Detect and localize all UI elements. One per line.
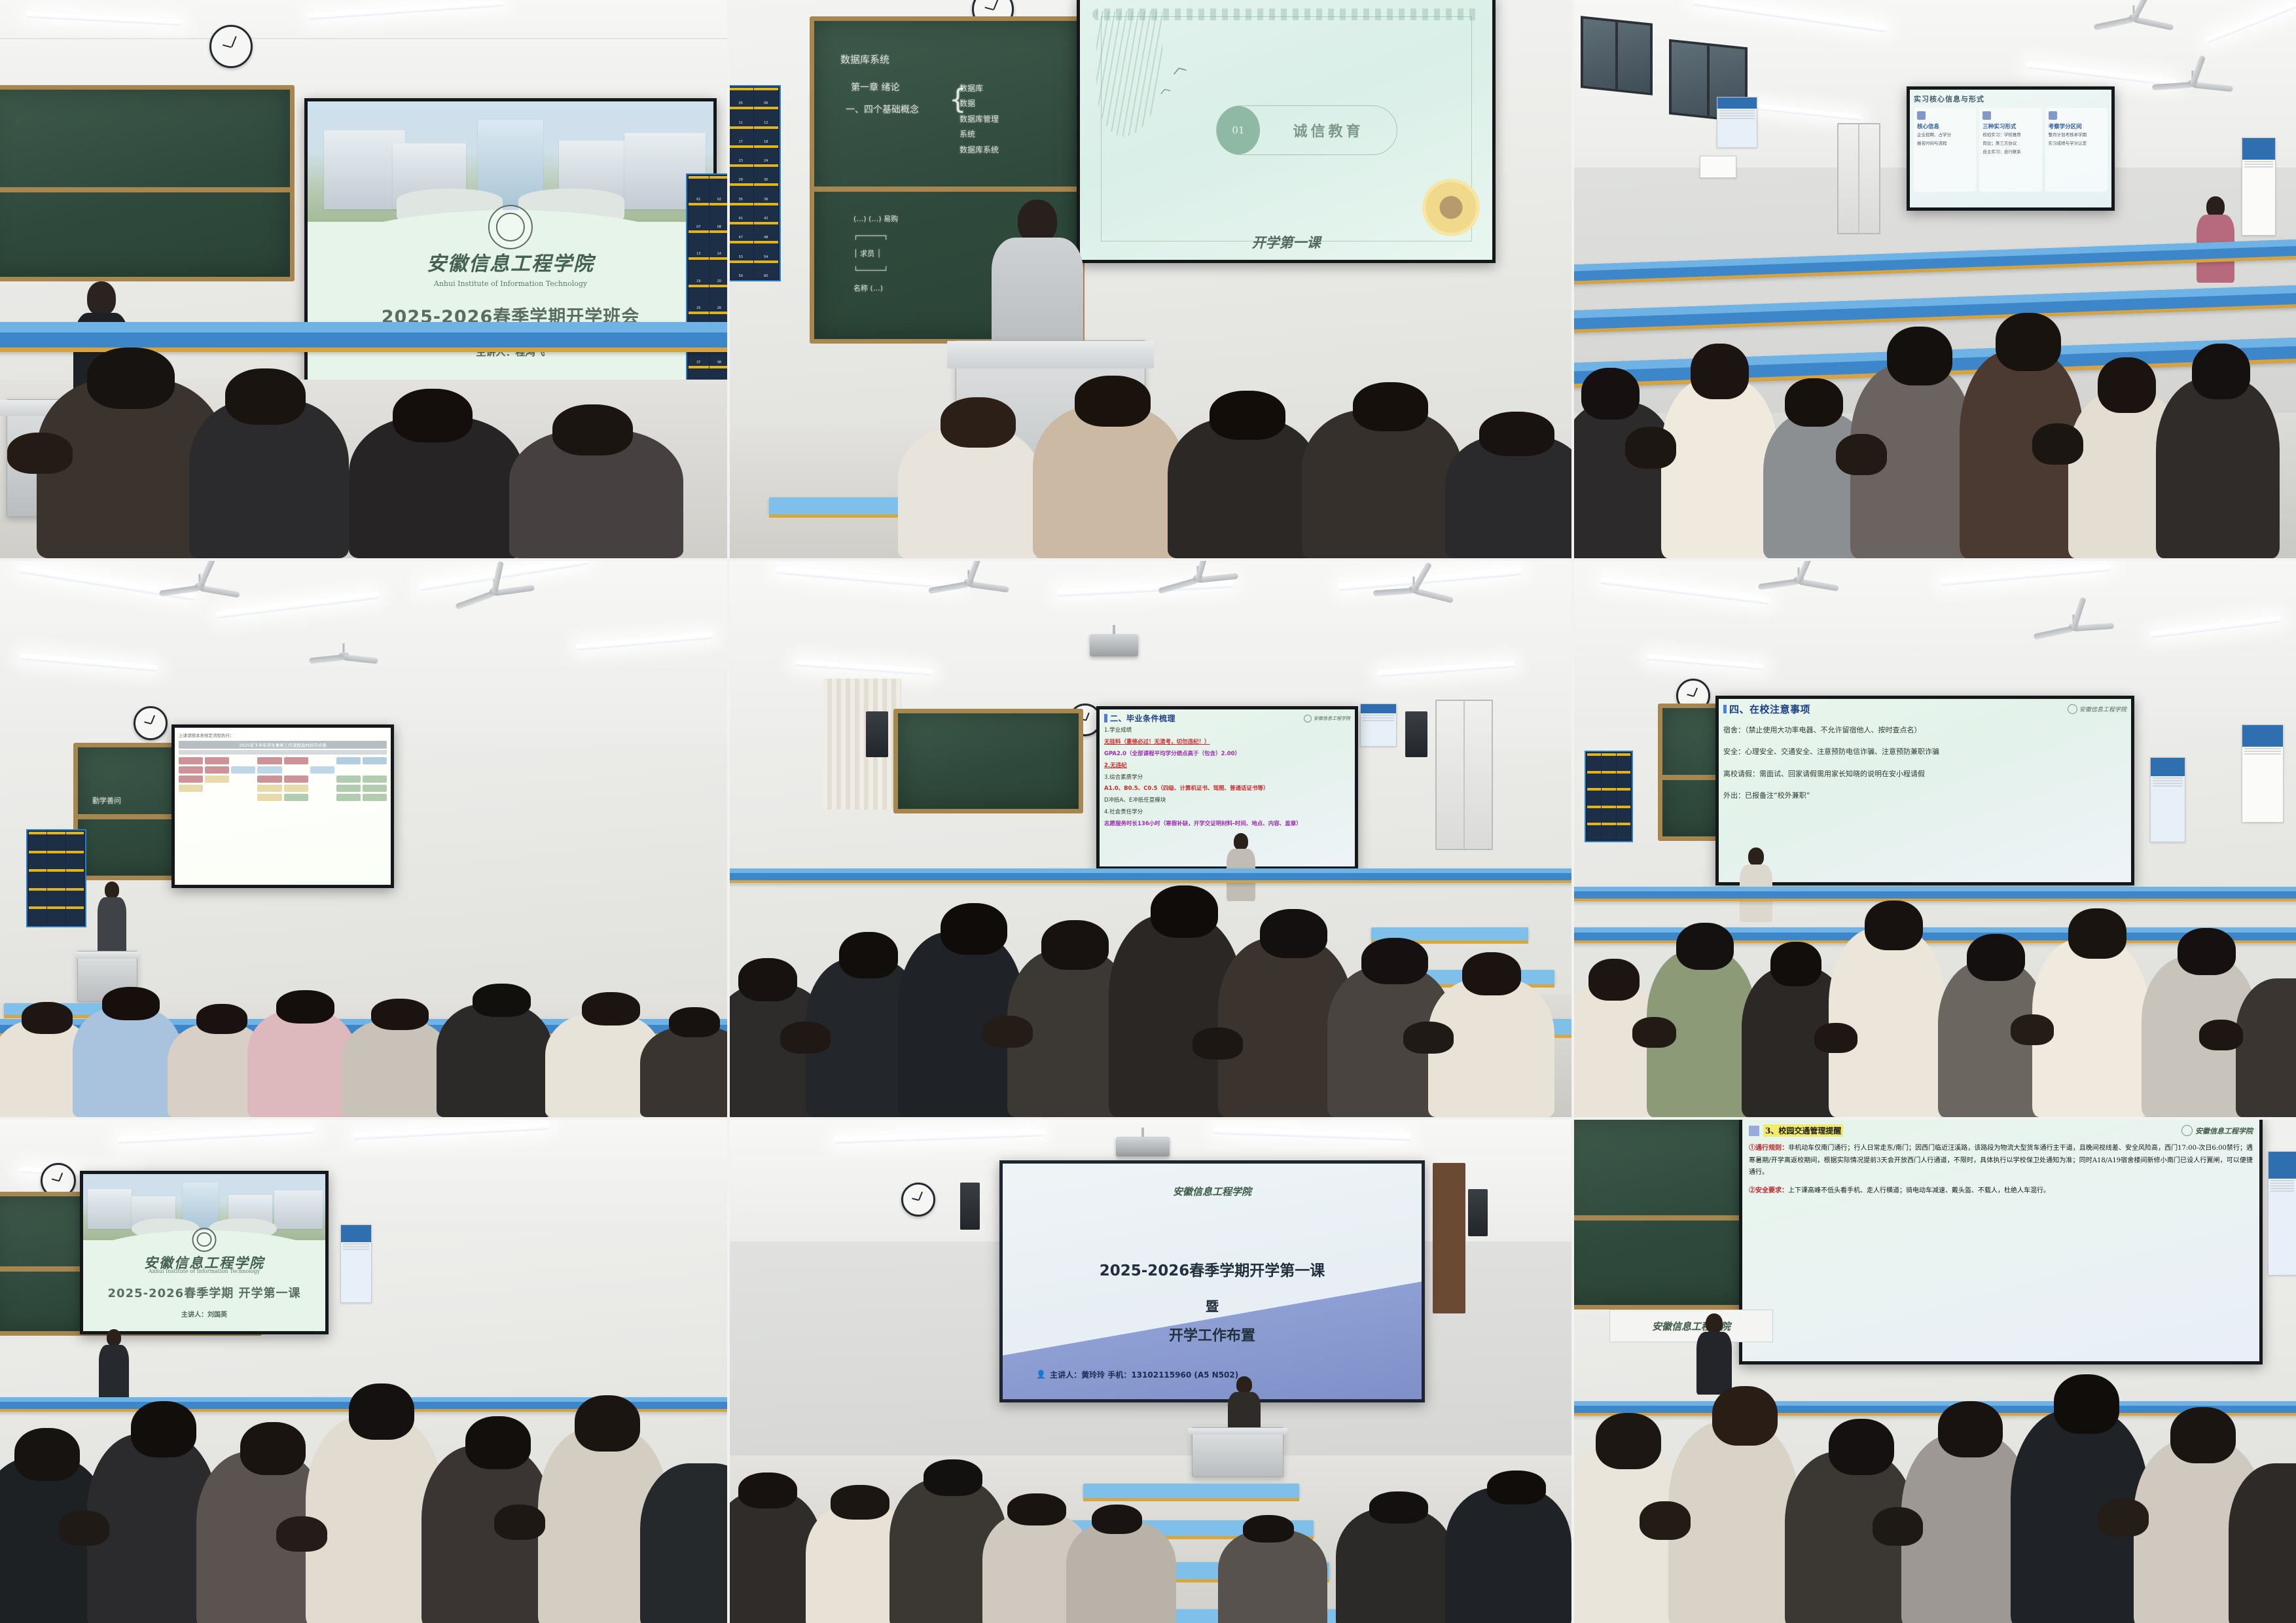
student-crowd: [730, 828, 1571, 1117]
panel-first-lesson-work-arrangement[interactable]: 安徽信息工程学院 2025-2026春季学期开学第一课 暨 开学工作布置 👤 主…: [730, 1120, 1571, 1623]
projection-screen[interactable]: 安徽信息工程学院 2025-2026春季学期开学第一课 暨 开学工作布置 👤 主…: [999, 1160, 1425, 1402]
student-crowd: [1574, 839, 2296, 1117]
slide-line: GPA2.0（全部课程平均学分绩点高于（包含）2.00）: [1104, 749, 1350, 759]
panel-flowchart-lecture[interactable]: 勤学善问 上课请按本表规定流程执行： 2025年下半年学生事务工作流程及时间节点…: [0, 561, 727, 1117]
logo-text-cn: 安徽信息工程学院: [2195, 1126, 2253, 1136]
info-card: 三种实习形式 校招实习：学校推荐 岗位；第三方协议 自主实习：自行联系: [1979, 108, 2041, 192]
wall-clock: [209, 25, 253, 68]
window: [1581, 16, 1653, 96]
slide-heading: 二、毕业条件梳理: [1110, 713, 1175, 724]
ceiling-fan: [157, 574, 242, 613]
ceiling-projector: [1116, 1137, 1170, 1156]
student-crowd: [1574, 212, 2296, 558]
flow-cell-grid: [179, 757, 387, 801]
slide-line: 2.无违纪: [1104, 761, 1350, 771]
slide-paragraph-2: ②安全要求：上下课高峰不低头看手机、走人行横道；骑电动车减速、戴头盔、不载人，杜…: [1749, 1185, 2253, 1198]
slide-heading: 3、校园交通管理提醒: [1763, 1124, 1843, 1137]
book-icon: [2049, 111, 2057, 120]
panel-integrity-education[interactable]: 数据库系统 第一章 绪论 一、四个基础概念 数据库 数据 数据库管理 系统 数据…: [730, 0, 1571, 558]
slide-line-2: 暨: [1003, 1296, 1422, 1315]
heading-tick-icon: [1104, 714, 1107, 722]
slide-first-lesson-title: 安徽信息工程学院 Anhui Institute of Information …: [83, 1174, 325, 1331]
ceiling-fan: [1371, 577, 1456, 616]
teacher-figure: [97, 882, 127, 954]
heading-square-icon: [1749, 1126, 1759, 1136]
flow-header-bar: 2025年下半年学生事务工作流程及时间节点表: [179, 741, 387, 749]
slide-line: 离校请假：需面试、回家请假需用家长知晓的说明在安小程请假: [1723, 768, 2126, 780]
ceiling-fan: [452, 579, 537, 618]
phone-pocket-organizer: 05061112 17182324 29303536 41424748 5354…: [730, 85, 781, 281]
card-item: 岗位；第三方协议: [1982, 141, 2038, 147]
wall-speaker: [960, 1183, 980, 1230]
chalkboard: [893, 709, 1083, 813]
university-name-en: Anhui Institute of Information Technolog…: [83, 1268, 325, 1274]
logo-text: 安徽信息工程学院: [2079, 705, 2126, 713]
list-icon: [1917, 111, 1926, 120]
sunflower-icon: [1422, 179, 1480, 236]
slide-line: 外出：已报备注“校外兼职”: [1723, 789, 2126, 802]
phone-pocket-organizer: [1585, 751, 1633, 842]
ceiling-fan: [308, 643, 380, 677]
info-card: 核心信息 企业招聘、占学分 报名时间与流程: [1914, 108, 1976, 192]
student-crowd: [1574, 1333, 2296, 1623]
card-item: 报名时间与流程: [1917, 141, 1973, 147]
seal-ring-icon: [2068, 704, 2077, 714]
chalk-line-concepts: 一、四个基础概念: [846, 103, 919, 117]
window-curtain: [823, 679, 901, 810]
slide-line: 安全：心理安全、交通安全、注意预防电信诈骗、注意预防兼职诈骗: [1723, 745, 2126, 758]
slide-presenter: 主讲人：刘国英: [83, 1309, 325, 1319]
university-logo-text: 安徽信息工程学院: [1173, 1185, 1251, 1198]
ceiling-fan: [1155, 566, 1240, 605]
university-logo: 安徽信息工程学院: [1304, 715, 1350, 722]
chalk-brace-icon: {: [949, 79, 967, 120]
chalk-line-title: 数据库系统: [840, 52, 889, 67]
wall-speaker: [1405, 711, 1427, 757]
slide-heading: 2025-2026春季学期 开学第一课: [83, 1284, 325, 1301]
university-logo: 安徽信息工程学院: [2181, 1125, 2253, 1136]
ceiling-fan: [2091, 5, 2176, 45]
screen-valance: [171, 724, 394, 726]
seal-ring-icon: [1304, 715, 1312, 722]
screen-valance: [80, 1171, 329, 1172]
slide-paragraph-1: ①通行规则：非机动车仅南门通行；行人日常走东/南门；因西门临近汪溪路，该路段为物…: [1749, 1143, 2253, 1179]
wall-speaker: [1468, 1189, 1488, 1236]
wall-notice-board: [2242, 724, 2284, 823]
ceiling-fan: [926, 570, 1011, 609]
slide-footer-bar: 👤 主讲人：黄玲玲 手机：13102115960 (A5 N502): [1003, 1349, 1422, 1399]
wall-notice-board: [1360, 704, 1397, 747]
student-crowd: [730, 346, 1571, 558]
screen-valance: [304, 98, 717, 99]
wall-notice-board: [340, 1224, 372, 1303]
section-pill: 01 诚信教育: [1216, 105, 1397, 155]
slide-heading: 实习核心信息与形式: [1914, 94, 2108, 104]
phone-pocket-organizer: [26, 829, 86, 927]
person-icon: 👤: [1036, 1370, 1046, 1379]
branch-icon: [1982, 111, 1991, 120]
panel-graduation-requirements[interactable]: 二、毕业条件梳理 安徽信息工程学院 1.学业成绩 无挂科（重修必过！无清考，切勿…: [730, 561, 1571, 1117]
slide-line: 无挂科（重修必过！无清考，切勿违纪！）: [1104, 738, 1350, 747]
panel-on-campus-notices[interactable]: 四、在校注意事项 安徽信息工程学院 宿舍：（禁止使用大功率电器、不允许留宿他人、…: [1574, 561, 2296, 1117]
university-name-en: Anhui Institute of Information Technolog…: [308, 279, 713, 288]
slide-internship-core-info: 实习核心信息与形式 核心信息 企业招聘、占学分 报名时间与流程 三种实习形式 校…: [1910, 90, 2111, 207]
slide-line: 3.综合素质学分: [1104, 773, 1350, 783]
slide-line-3: 开学工作布置: [1003, 1324, 1422, 1345]
speaker-figure: [992, 200, 1083, 357]
card-item: 企业招聘、占学分: [1917, 132, 1973, 139]
card-title: 考察学分区间: [2049, 122, 2104, 130]
wall-clock: [901, 1183, 935, 1217]
university-seal-icon: [192, 1228, 217, 1252]
chalkboard: [0, 85, 295, 281]
ceiling-edge: [0, 38, 727, 39]
panel-classroom-opening-class-meeting[interactable]: 安徽信息工程学院 Anhui Institute of Information …: [0, 0, 727, 558]
card-item: 实习成绩与学分认定: [2049, 141, 2104, 147]
slide-line: 宿舍：（禁止使用大功率电器、不允许留宿他人、按时查点名）: [1723, 724, 2126, 736]
section-number: 01: [1217, 106, 1260, 154]
chalk-line-chapter: 第一章 绪论: [851, 81, 899, 95]
student-crowd: [0, 1333, 727, 1623]
panel-first-lesson-title[interactable]: 安徽信息工程学院 Anhui Institute of Information …: [0, 1120, 727, 1623]
ceiling-projector: [1090, 634, 1138, 656]
slide-integrity-education: ︿ ︿ 01 诚信教育 开学第一课: [1080, 0, 1492, 260]
slide-footer-text: 主讲人：黄玲玲 手机：13102115960 (A5 N502): [1050, 1369, 1238, 1380]
slide-work-arrangement: 安徽信息工程学院 2025-2026春季学期开学第一课 暨 开学工作布置 👤 主…: [1003, 1164, 1422, 1399]
slide-footer: 开学第一课: [1080, 232, 1492, 252]
slide-campus-traffic-management: 3、校园交通管理提醒 安徽信息工程学院 ①通行规则：非机动车仅南门通行；行人日常…: [1742, 1120, 2259, 1361]
slide-line: A1.0、B0.5、C0.5（四级、计算机证书、驾照、普通话证书等）: [1104, 784, 1350, 794]
section-title: 诚信教育: [1260, 120, 1397, 141]
slide-line: D冲抵A、E冲抵任意模块: [1104, 796, 1350, 806]
projection-screen[interactable]: ︿ ︿ 01 诚信教育 开学第一课: [1077, 0, 1496, 263]
flow-caption: 上课请按本表规定流程执行：: [179, 732, 387, 738]
university-name-cn: 安徽信息工程学院: [308, 247, 713, 276]
screen-valance: [1715, 696, 2134, 697]
slide-heading: 四、在校注意事项: [1729, 702, 1810, 716]
wall-clock: [134, 706, 168, 740]
slide-line: 4.社会责任学分: [1104, 808, 1350, 817]
chalk-er-diagram: (…) (…) 易购 ┌──────┐ │ 求员 │ └──────┘ 名称 (…: [853, 211, 898, 297]
flow-subheader: [179, 750, 387, 755]
student-crowd: [0, 302, 727, 558]
paragraph-body: 上下课高峰不低头看手机、走人行横道；骑电动车减速、戴头盔、不载人，杜绝人车混行。: [1788, 1187, 2050, 1194]
projection-screen[interactable]: 实习核心信息与形式 核心信息 企业招聘、占学分 报名时间与流程 三种实习形式 校…: [1907, 86, 2115, 211]
wall-notice-board: [2268, 1151, 2296, 1275]
wood-column: [1433, 1163, 1465, 1313]
ceiling-fan: [1757, 567, 1840, 604]
wall-notice: [1700, 156, 1736, 178]
photo-collage-grid: 安徽信息工程学院 Anhui Institute of Information …: [0, 0, 2296, 1623]
university-logo: 安徽信息工程学院: [2068, 704, 2126, 714]
logo-text: 安徽信息工程学院: [1314, 715, 1350, 722]
heading-tick-icon: [1723, 705, 1727, 713]
card-title: 三种实习形式: [1982, 122, 2038, 130]
info-card: 考察学分区间 整月计划考核本学期 实习成绩与学分认定: [2045, 108, 2108, 192]
panel-campus-traffic-management[interactable]: 3、校园交通管理提醒 安徽信息工程学院 ①通行规则：非机动车仅南门通行；行人日常…: [1574, 1120, 2296, 1623]
slide-line: 1.学业成绩: [1104, 726, 1350, 736]
wall-notice-board: [2150, 757, 2185, 842]
paragraph-prefix: ①通行规则：: [1749, 1145, 1788, 1152]
university-seal-icon: [488, 205, 533, 249]
paragraph-body: 非机动车仅南门通行；行人日常走东/南门；因西门临近汪溪路，该路段为物流大型货车通…: [1749, 1145, 2253, 1176]
chalk-note: 勤学善问: [92, 796, 121, 807]
ceiling-fan: [2032, 615, 2115, 651]
student-crowd: [0, 950, 727, 1117]
slide-line-1: 2025-2026春季学期开学第一课: [1003, 1258, 1422, 1280]
wall-notice-board: [1717, 97, 1757, 148]
projection-screen[interactable]: 3、校园交通管理提醒 安徽信息工程学院 ①通行规则：非机动车仅南门通行；行人日常…: [1739, 1120, 2263, 1364]
card-item: 校招实习：学校推荐: [1982, 132, 2038, 139]
seal-ring-icon: [2181, 1125, 2193, 1136]
ceiling-fan: [2150, 71, 2235, 110]
card-title: 核心信息: [1917, 122, 1973, 130]
slide-student-affairs-flowchart: 上课请按本表规定流程执行： 2025年下半年学生事务工作流程及时间节点表: [175, 728, 391, 885]
card-item: 自主实习：自行联系: [1982, 149, 2038, 156]
projection-screen[interactable]: 上课请按本表规定流程执行： 2025年下半年学生事务工作流程及时间节点表: [171, 724, 394, 888]
projection-screen[interactable]: 安徽信息工程学院 Anhui Institute of Information …: [80, 1171, 329, 1334]
wall-speaker: [866, 711, 888, 757]
panel-internship-core-info[interactable]: 实习核心信息与形式 核心信息 企业招聘、占学分 报名时间与流程 三种实习形式 校…: [1574, 0, 2296, 558]
paragraph-prefix: ②安全要求：: [1749, 1187, 1788, 1194]
student-crowd: [730, 1415, 1571, 1623]
card-item: 整月计划考核本学期: [2049, 132, 2104, 139]
